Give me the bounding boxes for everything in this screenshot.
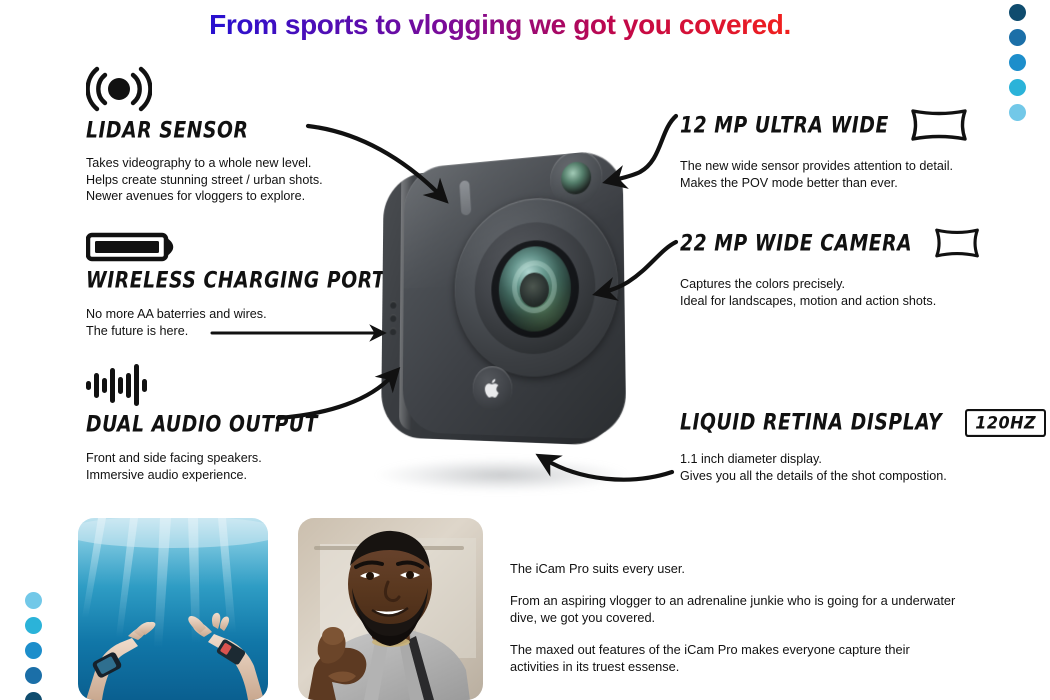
feature-liquid-retina-display: LIQUID RETINA DISPLAY 120HZ 1.1 inch dia… <box>680 410 1000 484</box>
dot-1 <box>1009 4 1026 21</box>
dot-5 <box>1009 104 1026 121</box>
dot-2 <box>1009 29 1026 46</box>
dot-4 <box>25 667 42 684</box>
camera-body <box>383 149 624 451</box>
icam-pro-camera <box>355 140 655 510</box>
lens-iris-ring <box>512 259 557 313</box>
decorative-dots-top-right <box>1009 4 1026 121</box>
side-buttons[interactable] <box>390 301 397 335</box>
wide-frame-icon <box>934 226 980 260</box>
ultra-wide-frame-icon <box>910 108 968 142</box>
underwater-divers-photo <box>78 518 268 700</box>
shutter-button[interactable] <box>459 180 471 216</box>
portrait-scene <box>298 518 483 700</box>
dot-3 <box>1009 54 1026 71</box>
bottom-paragraph-1: The iCam Pro suits every user. <box>510 560 960 577</box>
feature-heading: 22 MP WIDE CAMERA <box>680 229 912 255</box>
feature-body: 1.1 inch diameter display. Gives you all… <box>680 451 1000 484</box>
battery-icon <box>86 232 178 262</box>
feature-heading: LIDAR SENSOR <box>86 117 374 143</box>
ultra-wide-lens <box>550 148 603 207</box>
page-title: From sports to vlogging we got you cover… <box>0 9 1000 41</box>
feature-heading: 12 MP ULTRA WIDE <box>680 111 889 137</box>
dot-1 <box>25 592 42 609</box>
bottom-copy-block: The iCam Pro suits every user. From an a… <box>510 560 960 690</box>
dot-2 <box>25 617 42 634</box>
dot-3 <box>25 642 42 659</box>
underwater-scene <box>78 518 268 700</box>
home-button[interactable] <box>473 366 513 411</box>
refresh-rate-badge: 120HZ <box>965 409 1046 437</box>
dot-4 <box>1009 79 1026 96</box>
feature-heading: DUAL AUDIO OUTPUT <box>86 411 374 437</box>
main-lens-barrel <box>454 192 619 377</box>
infographic-page: From sports to vlogging we got you cover… <box>0 0 1050 700</box>
audio-waveform-icon <box>86 364 152 406</box>
camera-drop-shadow <box>377 458 627 492</box>
feature-body: Captures the colors precisely. Ideal for… <box>680 276 980 309</box>
portrait-vlogger-photo <box>298 518 483 700</box>
bottom-paragraph-3: The maxed out features of the iCam Pro m… <box>510 641 960 675</box>
feature-12mp-ultra-wide: 12 MP ULTRA WIDE The new wide sensor pro… <box>680 108 980 191</box>
feature-heading: LIQUID RETINA DISPLAY <box>680 408 942 434</box>
feature-body: Front and side facing speakers. Immersiv… <box>86 450 386 483</box>
feature-lidar-sensor: LIDAR SENSOR Takes videography to a whol… <box>86 66 386 205</box>
decorative-dots-bottom-left <box>25 592 42 700</box>
feature-heading: WIRELESS CHARGING PORT <box>86 267 393 293</box>
bottom-paragraph-2: From an aspiring vlogger to an adrenalin… <box>510 592 960 626</box>
feature-22mp-wide-camera: 22 MP WIDE CAMERA Captures the colors pr… <box>680 226 980 309</box>
feature-body: Takes videography to a whole new level. … <box>86 155 386 205</box>
main-lens-ring <box>475 219 596 355</box>
dot-5 <box>25 692 42 700</box>
apple-logo-icon <box>483 377 502 400</box>
lidar-signal-icon <box>86 66 152 112</box>
main-lens-glass <box>491 238 579 338</box>
feature-body: The new wide sensor provides attention t… <box>680 158 980 191</box>
feature-dual-audio-output: DUAL AUDIO OUTPUT Front and side facing … <box>86 364 386 483</box>
